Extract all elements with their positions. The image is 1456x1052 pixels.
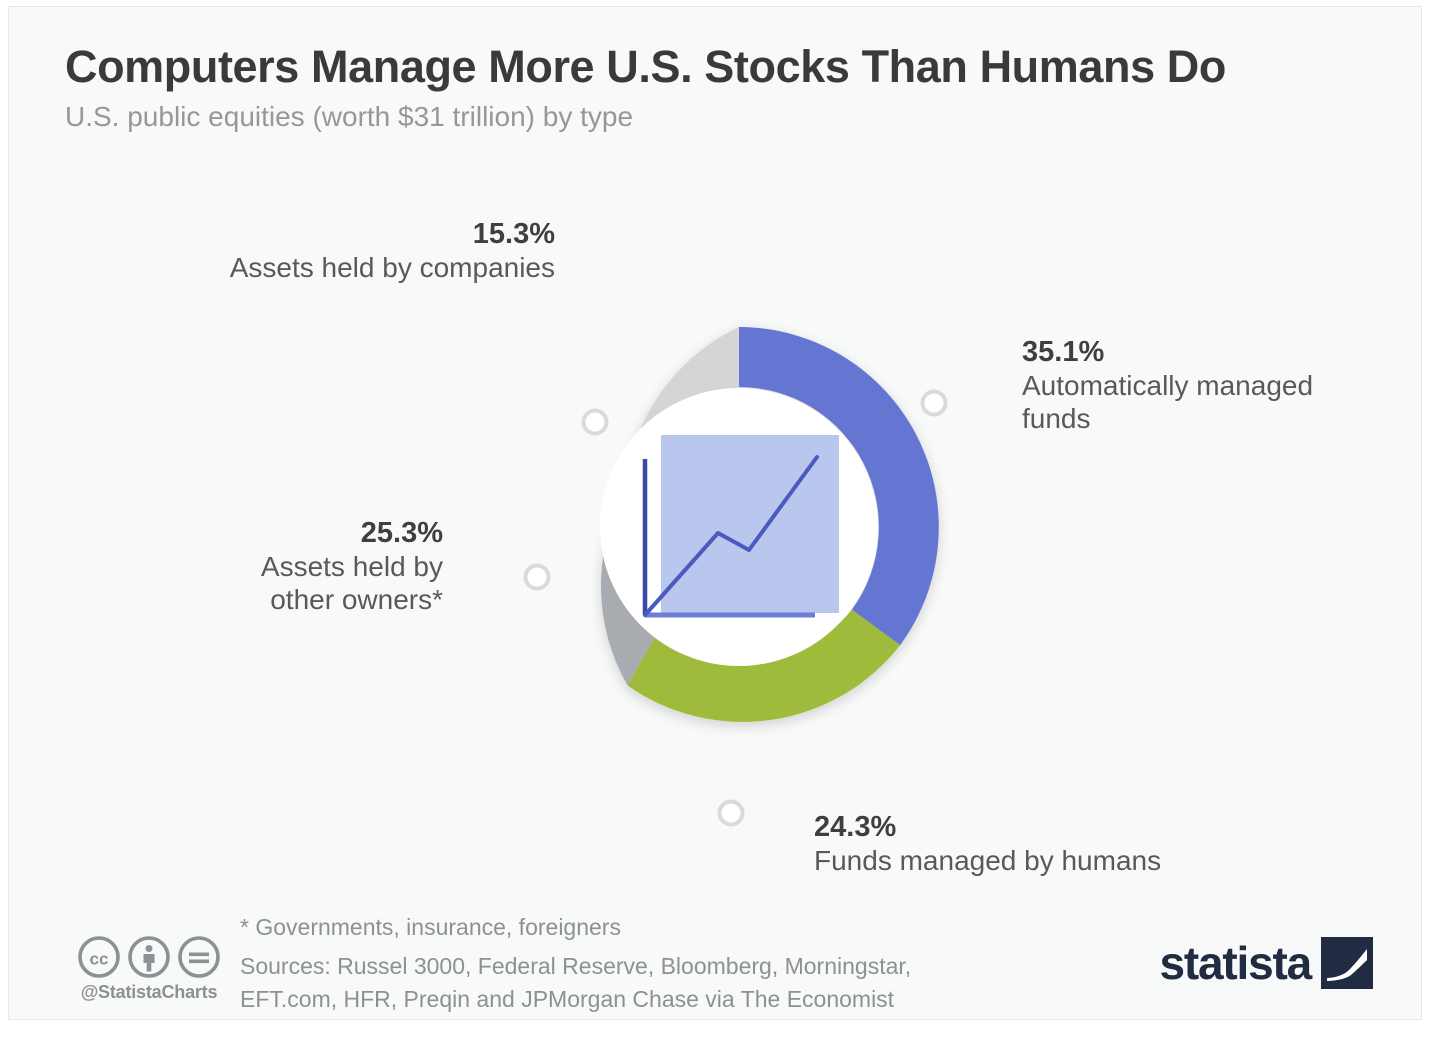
statista-mark-icon xyxy=(1321,937,1373,989)
callout-label-line-2: other owners* xyxy=(261,583,443,616)
line-chart-growth-icon xyxy=(645,435,839,615)
sources: Sources: Russel 3000, Federal Reserve, B… xyxy=(240,950,911,1016)
callout-label-line-1: Assets held by xyxy=(261,550,443,583)
donut-chart-svg xyxy=(9,157,1423,887)
callout-value: 15.3% xyxy=(230,217,555,251)
callout-label: Funds managed by humans xyxy=(814,844,1161,877)
sources-line-1: Sources: Russel 3000, Federal Reserve, B… xyxy=(240,950,911,983)
cc-icon: cc xyxy=(77,935,121,979)
callout-assets-held-by-other-owners[interactable]: 25.3% Assets held by other owners* xyxy=(261,516,443,616)
callout-label-line-2: funds xyxy=(1022,402,1313,435)
callout-assets-held-by-companies[interactable]: 15.3% Assets held by companies xyxy=(230,217,555,284)
creative-commons-icons: cc xyxy=(64,935,234,979)
callout-marker-assets-held-by-other-owners[interactable] xyxy=(526,566,549,589)
no-derivatives-equals-icon xyxy=(177,935,221,979)
callout-marker-assets-held-by-companies[interactable] xyxy=(584,411,607,434)
statista-wordmark: statista xyxy=(1160,940,1311,986)
page-title: Computers Manage More U.S. Stocks Than H… xyxy=(65,43,1365,92)
callout-label-line-1: Automatically managed xyxy=(1022,369,1313,402)
creative-commons-block: cc @StatistaCharts xyxy=(64,935,234,1003)
callout-automatically-managed-funds[interactable]: 35.1% Automatically managed funds xyxy=(1022,335,1313,435)
callout-marker-funds-managed-by-humans[interactable] xyxy=(720,802,743,825)
callout-funds-managed-by-humans[interactable]: 24.3% Funds managed by humans xyxy=(814,810,1161,877)
svg-text:cc: cc xyxy=(90,950,109,969)
header: Computers Manage More U.S. Stocks Than H… xyxy=(65,43,1365,132)
infographic-card: Computers Manage More U.S. Stocks Than H… xyxy=(8,6,1422,1020)
callout-value: 35.1% xyxy=(1022,335,1313,369)
callout-label: Assets held by companies xyxy=(230,251,555,284)
statista-logo: statista xyxy=(1160,937,1373,989)
attribution-person-icon xyxy=(127,935,171,979)
sources-line-2: EFT.com, HFR, Preqin and JPMorgan Chase … xyxy=(240,983,911,1016)
donut-chart: 15.3% Assets held by companies 35.1% Aut… xyxy=(9,157,1423,887)
callout-value: 24.3% xyxy=(814,810,1161,844)
callout-value: 25.3% xyxy=(261,516,443,550)
page-subtitle: U.S. public equities (worth $31 trillion… xyxy=(65,102,1365,133)
statista-handle: @StatistaCharts xyxy=(64,982,234,1003)
callout-marker-automatically-managed-funds[interactable] xyxy=(923,392,946,415)
footnote: * Governments, insurance, foreigners xyxy=(240,912,621,943)
